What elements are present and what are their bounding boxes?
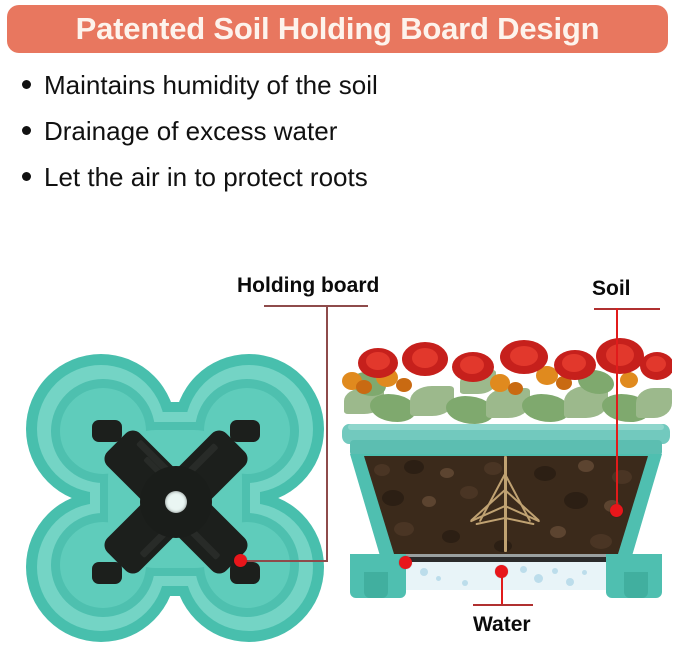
soil-layer — [364, 456, 648, 558]
product-image-top-view — [24, 352, 326, 644]
bullet-icon — [22, 80, 31, 89]
water-leader-vertical — [501, 575, 503, 605]
planter-foot — [624, 572, 648, 598]
annotation-label-soil: Soil — [592, 277, 631, 301]
soil-leader-vertical — [616, 308, 618, 508]
holding-board-leader-vertical — [326, 305, 328, 561]
flower-foliage — [340, 336, 672, 432]
bullet-icon — [22, 126, 31, 135]
planter-foot — [364, 572, 388, 598]
water-marker — [495, 565, 508, 578]
water-leader-tbar — [473, 604, 533, 606]
board-foot — [92, 420, 122, 442]
holding-board-marker-left — [234, 554, 247, 567]
drainage-hole — [165, 491, 187, 513]
feature-list: Maintains humidity of the soil Drainage … — [22, 70, 642, 208]
annotation-label-water: Water — [473, 613, 531, 637]
feature-text: Drainage of excess water — [44, 116, 337, 147]
holding-board-edge — [382, 554, 630, 557]
holding-board-leader-horizontal — [244, 560, 328, 562]
feature-text: Let the air in to protect roots — [44, 162, 368, 193]
infographic-canvas: Patented Soil Holding Board Design Maint… — [0, 0, 679, 646]
plant-root — [504, 456, 507, 552]
board-foot — [92, 562, 122, 584]
feature-text: Maintains humidity of the soil — [44, 70, 378, 101]
plant-root — [504, 489, 540, 521]
holding-board-leader-tbar — [264, 305, 368, 307]
list-item: Drainage of excess water — [22, 116, 642, 162]
board-foot — [230, 420, 260, 442]
holding-board-marker-right — [399, 556, 412, 569]
soil-marker — [610, 504, 623, 517]
list-item: Maintains humidity of the soil — [22, 70, 642, 116]
page-title: Patented Soil Holding Board Design — [76, 11, 600, 47]
header-banner: Patented Soil Holding Board Design — [7, 5, 668, 53]
soil-leader-tbar — [594, 308, 660, 310]
annotation-label-holding-board: Holding board — [237, 274, 379, 298]
list-item: Let the air in to protect roots — [22, 162, 642, 208]
board-foot — [230, 562, 260, 584]
bullet-icon — [22, 172, 31, 181]
